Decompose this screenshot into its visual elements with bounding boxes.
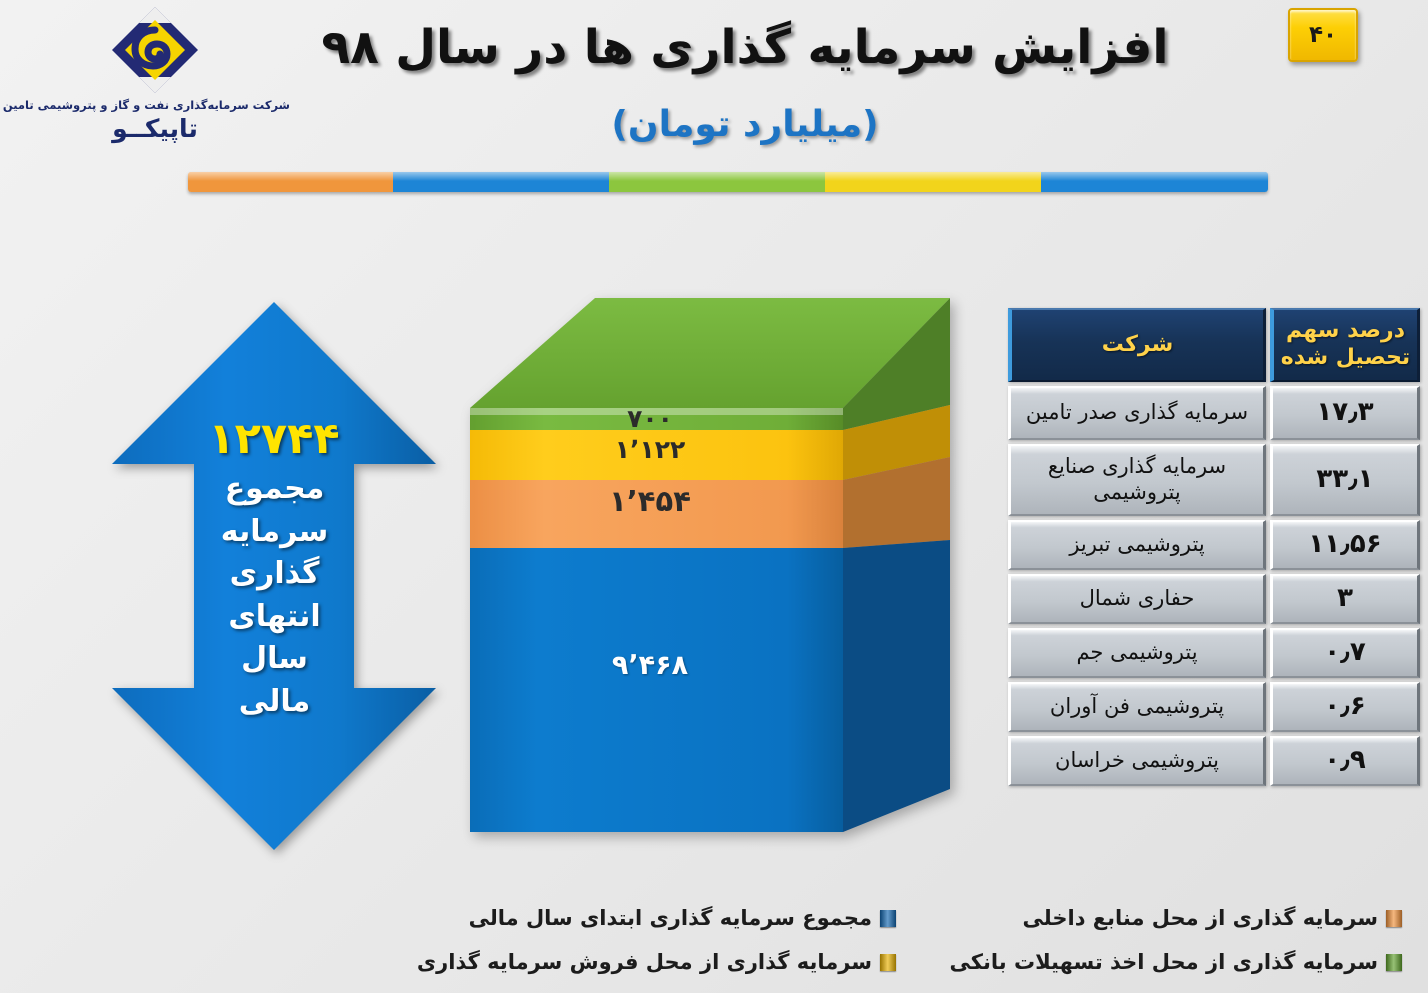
cell-company: پتروشیمی جم (1008, 628, 1266, 678)
cell-percent: ۰٫۹ (1270, 736, 1420, 786)
table-row[interactable]: ۰٫۹ پتروشیمی خراسان (1008, 736, 1420, 786)
legend-item-sale-of-investments: سرمایه گذاری از محل فروش سرمایه گذاری (417, 950, 896, 974)
cell-company: پتروشیمی تبریز (1008, 520, 1266, 570)
divider-segment-blue-2 (393, 172, 609, 192)
slide-canvas: شرکت سرمایه‌گذاری نفت و گاز و پتروشیمی ت… (0, 0, 1428, 993)
legend-item-bank-facilities: سرمایه گذاری از محل اخذ تسهیلات بانکی (950, 950, 1402, 974)
divider-segment-orange (188, 172, 393, 192)
company-logo-block: شرکت سرمایه‌گذاری نفت و گاز و پتروشیمی ت… (20, 4, 290, 154)
callout-label: مجموع سرمایه گذاری انتهای سال مالی (212, 468, 337, 724)
slide-title: افزایش سرمایه گذاری ها در سال ۹۸ (300, 22, 1190, 75)
legend-item-internal-resources: سرمایه گذاری از محل منابع داخلی (1023, 906, 1402, 930)
company-name: تاپیکــو (20, 114, 290, 143)
legend-swatch-blue-icon (880, 910, 896, 927)
cell-company: پتروشیمی فن آوران (1008, 682, 1266, 732)
table-row[interactable]: ۰٫۶ پتروشیمی فن آوران (1008, 682, 1420, 732)
table-row[interactable]: ۳۳٫۱ سرمایه گذاری صنایع پتروشیمی (1008, 444, 1420, 516)
table-row[interactable]: ۱۷٫۳ سرمایه گذاری صدر تامین (1008, 386, 1420, 440)
bar-front-blue (470, 548, 843, 832)
table-row[interactable]: ۳ حفاری شمال (1008, 574, 1420, 624)
company-subtitle: شرکت سرمایه‌گذاری نفت و گاز و پتروشیمی ت… (20, 98, 290, 112)
table-row[interactable]: ۱۱٫۵۶ پتروشیمی تبریز (1008, 520, 1420, 570)
bar-side-blue (843, 540, 950, 832)
cell-company: حفاری شمال (1008, 574, 1266, 624)
divider-segment-blue-1 (1041, 172, 1268, 192)
stacked-bar-chart-3d: ۷۰۰ ۱٬۱۲۲ ۱٬۴۵۴ ۹٬۴۶۸ (460, 292, 960, 852)
divider-segment-yellow (825, 172, 1041, 192)
table-header-company: شرکت (1008, 308, 1266, 382)
table-row[interactable]: ۰٫۷ پتروشیمی جم (1008, 628, 1420, 678)
total-investment-callout: ۱۲۷۴۴ مجموع سرمایه گذاری انتهای سال مالی (104, 296, 444, 856)
cell-percent: ۱۷٫۳ (1270, 386, 1420, 440)
bar-label-yellow: ۱٬۱۲۲ (520, 435, 780, 464)
bar-label-orange: ۱٬۴۵۴ (520, 484, 780, 518)
divider-segment-green (609, 172, 825, 192)
legend-swatch-yellow-icon (880, 954, 896, 971)
cell-percent: ۰٫۶ (1270, 682, 1420, 732)
bar-label-green: ۷۰۰ (520, 404, 780, 433)
cell-percent: ۰٫۷ (1270, 628, 1420, 678)
callout-total-value: ۱۲۷۴۴ (104, 414, 444, 464)
chart-legend: سرمایه گذاری از محل منابع داخلی مجموع سر… (262, 900, 1402, 990)
legend-label: سرمایه گذاری از محل فروش سرمایه گذاری (417, 950, 872, 974)
legend-label: سرمایه گذاری از محل منابع داخلی (1023, 906, 1378, 930)
page-number-badge: ۴۰ (1288, 8, 1358, 62)
slide-subtitle: (میلیارد تومان) (300, 105, 1190, 145)
legend-label: سرمایه گذاری از محل اخذ تسهیلات بانکی (950, 950, 1378, 974)
cell-percent: ۱۱٫۵۶ (1270, 520, 1420, 570)
bar-label-blue: ۹٬۴۶۸ (520, 650, 780, 681)
cell-percent: ۳۳٫۱ (1270, 444, 1420, 516)
cell-company: سرمایه گذاری صدر تامین (1008, 386, 1266, 440)
table-header-percent: درصد سهم تحصیل شده (1270, 308, 1420, 382)
cell-company: سرمایه گذاری صنایع پتروشیمی (1008, 444, 1266, 516)
acquired-share-table: درصد سهم تحصیل شده شرکت ۱۷٫۳ سرمایه گذار… (1008, 308, 1420, 790)
legend-swatch-green-icon (1386, 954, 1402, 971)
legend-swatch-orange-icon (1386, 910, 1402, 927)
legend-label: مجموع سرمایه گذاری ابتدای سال مالی (469, 906, 872, 930)
cell-company: پتروشیمی خراسان (1008, 736, 1266, 786)
legend-item-start-of-year: مجموع سرمایه گذاری ابتدای سال مالی (469, 906, 896, 930)
tappico-diamond-logo-icon (109, 4, 201, 96)
cell-percent: ۳ (1270, 574, 1420, 624)
decorative-divider-bar (188, 172, 1268, 192)
table-header-row: درصد سهم تحصیل شده شرکت (1008, 308, 1420, 382)
